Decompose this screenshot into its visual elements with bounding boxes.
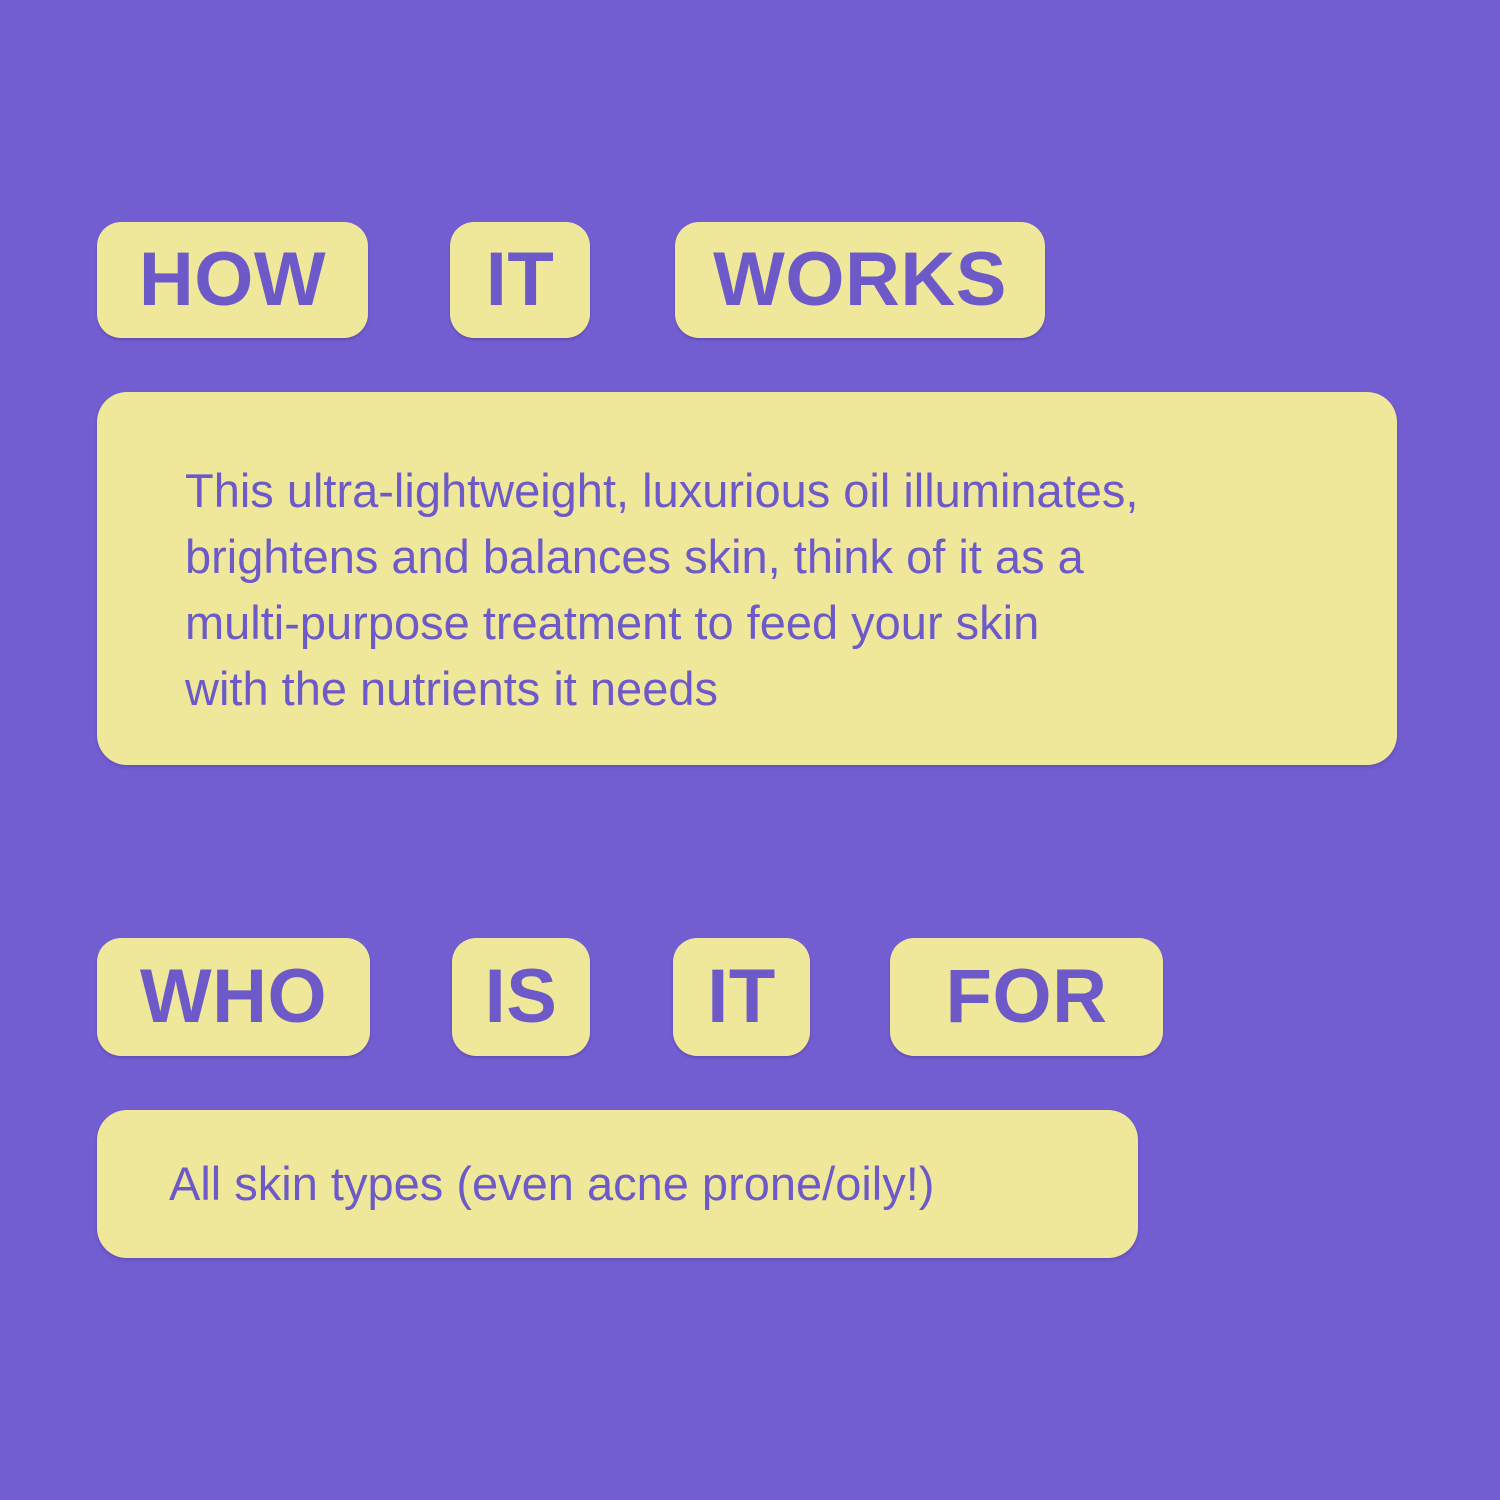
heading-chip-how-label: HOW	[139, 242, 326, 318]
heading-chip-works-label: WORKS	[713, 242, 1007, 318]
heading-chip-who-label: WHO	[140, 959, 327, 1035]
heading-chip-it-label: IT	[707, 959, 776, 1035]
who-is-it-for-body-line: All skin types (even acne prone/oily!)	[169, 1151, 934, 1217]
how-it-works-card: This ultra-lightweight, luxurious oil il…	[97, 392, 1397, 765]
heading-chip-works: WORKS	[675, 222, 1045, 338]
heading-chip-who: WHO	[97, 938, 370, 1056]
heading-chip-for: FOR	[890, 938, 1163, 1056]
heading-chip-it-label: IT	[486, 242, 555, 318]
heading-chip-it: IT	[673, 938, 810, 1056]
promo-graphic: HOW IT WORKS This ultra-lightweight, lux…	[0, 0, 1500, 1500]
heading-chip-for-label: FOR	[946, 959, 1108, 1035]
heading-chips-who-is-it-for: WHO IS IT FOR	[97, 938, 1163, 1056]
heading-chip-is-label: IS	[485, 959, 558, 1035]
how-it-works-body-line: with the nutrients it needs	[185, 656, 1337, 722]
how-it-works-body: This ultra-lightweight, luxurious oil il…	[185, 436, 1337, 722]
heading-chip-how: HOW	[97, 222, 368, 338]
heading-chip-is: IS	[452, 938, 590, 1056]
who-is-it-for-body: All skin types (even acne prone/oily!)	[169, 1151, 934, 1217]
who-is-it-for-card: All skin types (even acne prone/oily!)	[97, 1110, 1138, 1258]
how-it-works-body-line: multi-purpose treatment to feed your ski…	[185, 590, 1337, 656]
how-it-works-body-line: This ultra-lightweight, luxurious oil il…	[185, 458, 1337, 524]
heading-chip-it: IT	[450, 222, 590, 338]
heading-chips-how-it-works: HOW IT WORKS	[97, 222, 1045, 338]
how-it-works-body-line: brightens and balances skin, think of it…	[185, 524, 1337, 590]
